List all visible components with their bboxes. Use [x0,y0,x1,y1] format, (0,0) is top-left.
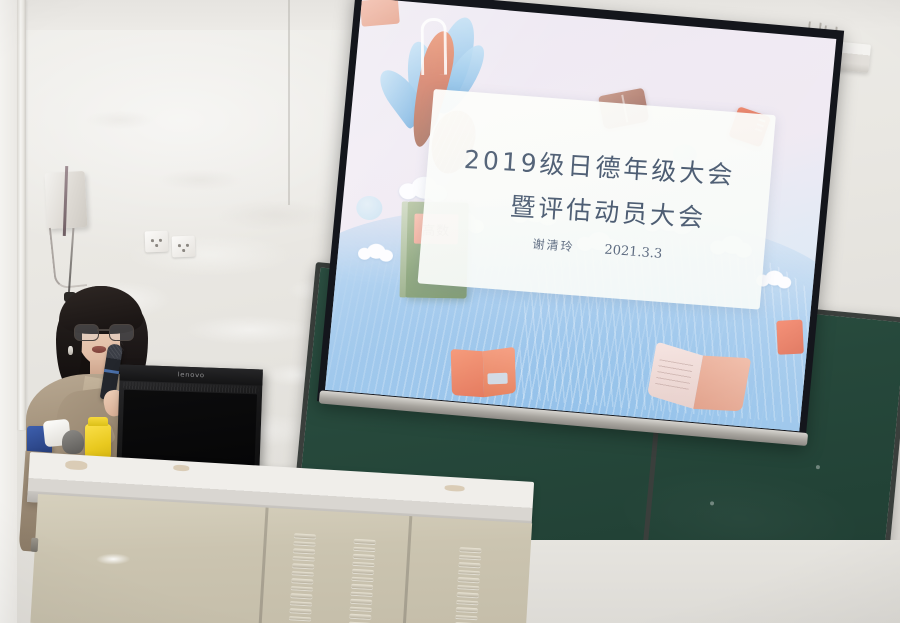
podium-paint-scuff [96,553,130,564]
power-socket-left[interactable] [145,231,169,253]
lecture-hall-photo: 高数 2019级日德年级大会 暨评估动员大会 谢清玲 2021.3.3 [0,0,900,623]
power-socket-right[interactable] [172,236,196,258]
floating-book-red-small-icon [777,319,805,354]
screen-surface: 高数 2019级日德年级大会 暨评估动员大会 谢清玲 2021.3.3 [325,0,836,431]
eyeglasses-icon [74,324,132,339]
presentation-date: 2021.3.3 [604,242,663,261]
presentation-slide: 高数 2019级日德年级大会 暨评估动员大会 谢清玲 2021.3.3 [325,0,836,431]
slide-title-line-2: 暨评估动员大会 [509,187,707,235]
presenter-name: 谢清玲 [532,235,575,255]
wave-foam [366,243,385,260]
book-accent-icon [360,0,400,27]
cabinet-vent [453,547,482,623]
slide-byline: 谢清玲 2021.3.3 [532,235,663,262]
podium-scuff [65,460,87,470]
open-book-orange-icon [450,349,515,397]
monitor-screen [122,390,257,466]
cabinet-door-seam [258,508,269,623]
cabinet-vent [287,533,316,623]
cabinet-vent [347,539,376,623]
thermos-cap [88,417,108,426]
cabinet-door-seam [402,516,413,623]
podium-scuff [173,465,189,472]
mouth [92,346,106,353]
desk-item[interactable] [62,430,84,454]
wall-conduit-pipe [17,0,26,430]
slide-title-card: 2019级日德年级大会 暨评估动员大会 谢清玲 2021.3.3 [417,89,775,310]
lenovo-logo: lenovo [178,371,205,379]
slide-title-line-1: 2019级日德年级大会 [462,140,736,192]
wall-seam [288,0,290,205]
podium-scuff [444,485,464,492]
projector-screen: 高数 2019级日德年级大会 暨评估动员大会 谢清玲 2021.3.3 [317,0,844,444]
earring [68,346,73,355]
floor-area [520,540,900,623]
wall-corner [0,0,17,623]
cabinet-lock[interactable] [31,538,39,552]
